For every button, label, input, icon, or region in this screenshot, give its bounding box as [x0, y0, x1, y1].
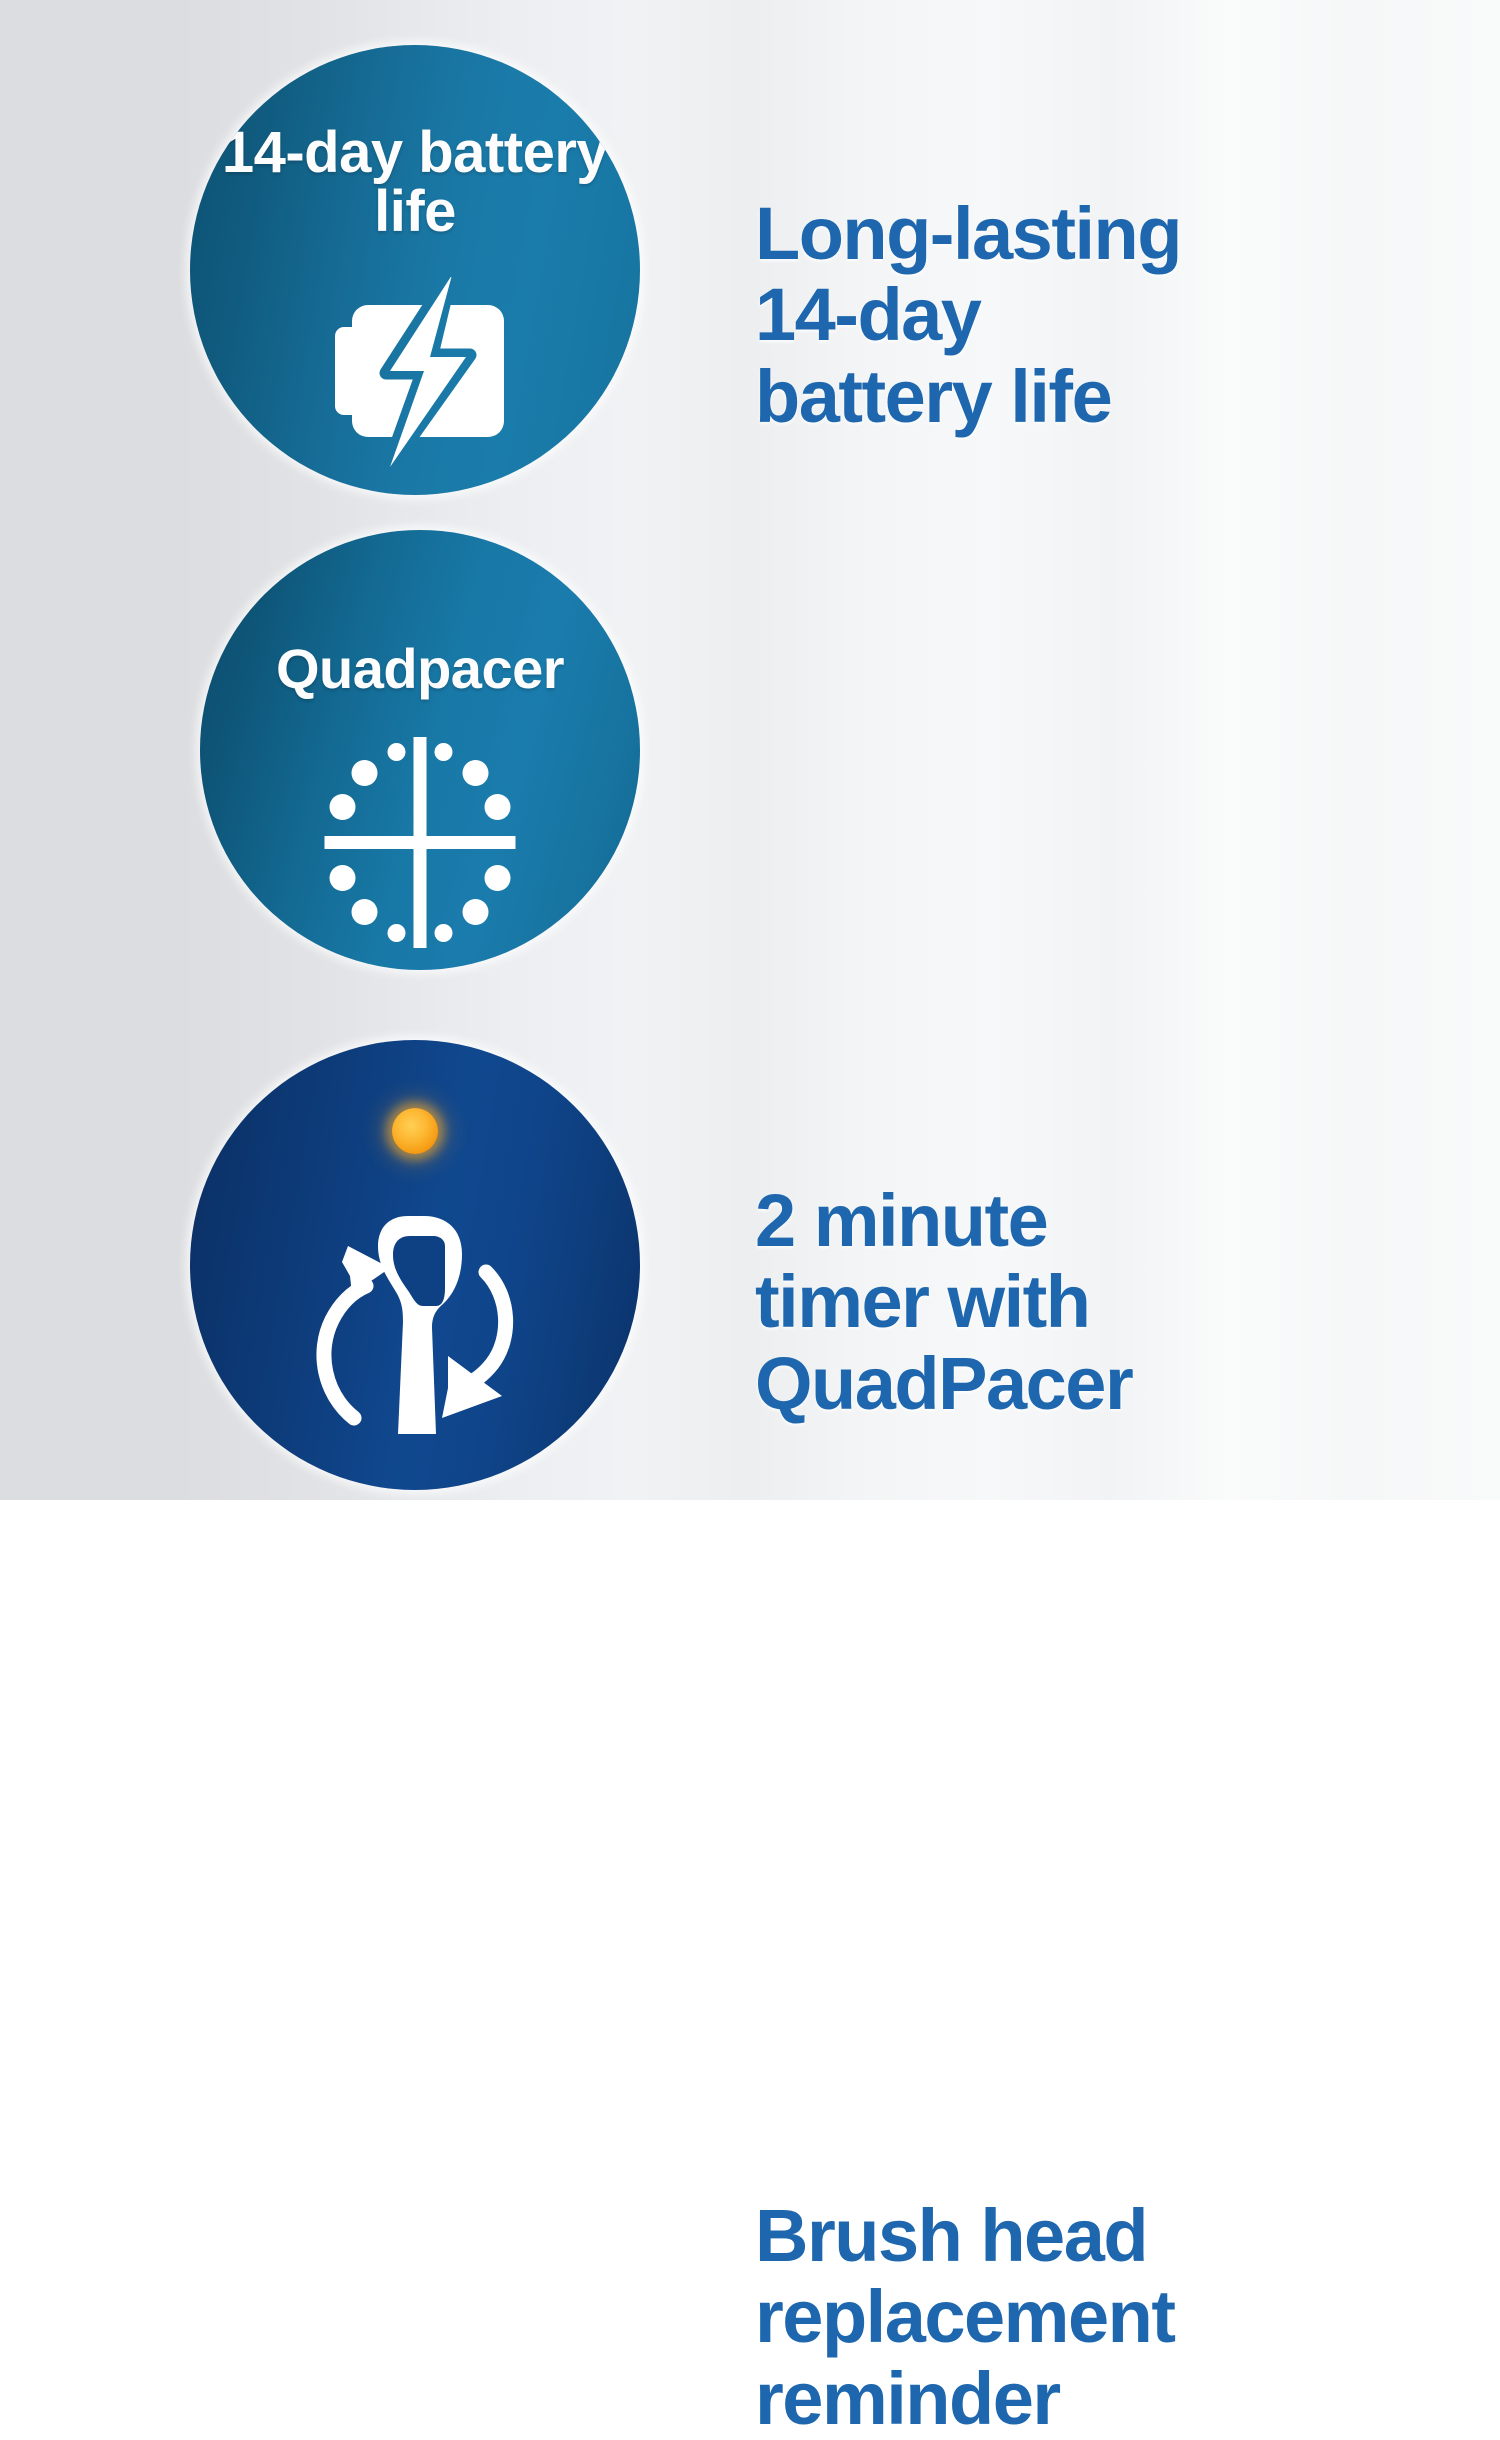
- quadpacer-timer-icon: [313, 735, 528, 950]
- badge-caption-line: battery life: [374, 120, 608, 244]
- heading-line: reminder: [755, 2358, 1315, 2439]
- heading-line: Brush head: [755, 2195, 1315, 2276]
- badge-caption-quadpacer: Quadpacer: [200, 640, 640, 697]
- badge-quadpacer: Quadpacer: [200, 530, 640, 970]
- badge-caption-line: 14-day: [222, 120, 403, 185]
- badge-battery-life: 14-day battery life: [190, 45, 640, 495]
- feature-row-brush-head-reminder: Brush head replacement reminder: [0, 1040, 1500, 1490]
- badge-brush-head-reminder: [190, 1040, 640, 1490]
- feature-row-quadpacer: Quadpacer: [0, 530, 1500, 970]
- brush-head-replacement-icon: [290, 1210, 540, 1450]
- orange-led-indicator-icon: [392, 1108, 438, 1154]
- feature-row-battery-life: 14-day battery life: [0, 45, 1500, 495]
- feature-heading-battery-life: Long-lasting 14-day battery life: [755, 193, 1315, 437]
- heading-line: replacement: [755, 2276, 1315, 2357]
- heading-line: 14-day: [755, 274, 1315, 355]
- badge-caption-line: Quadpacer: [276, 637, 564, 700]
- heading-line: battery life: [755, 356, 1315, 437]
- heading-line: Long-lasting: [755, 193, 1315, 274]
- battery-charging-icon: [300, 277, 530, 467]
- infographic-canvas: 14-day battery life: [0, 0, 1500, 1500]
- badge-caption-battery-life: 14-day battery life: [190, 123, 640, 241]
- feature-heading-brush-head-reminder: Brush head replacement reminder: [755, 2195, 1315, 2439]
